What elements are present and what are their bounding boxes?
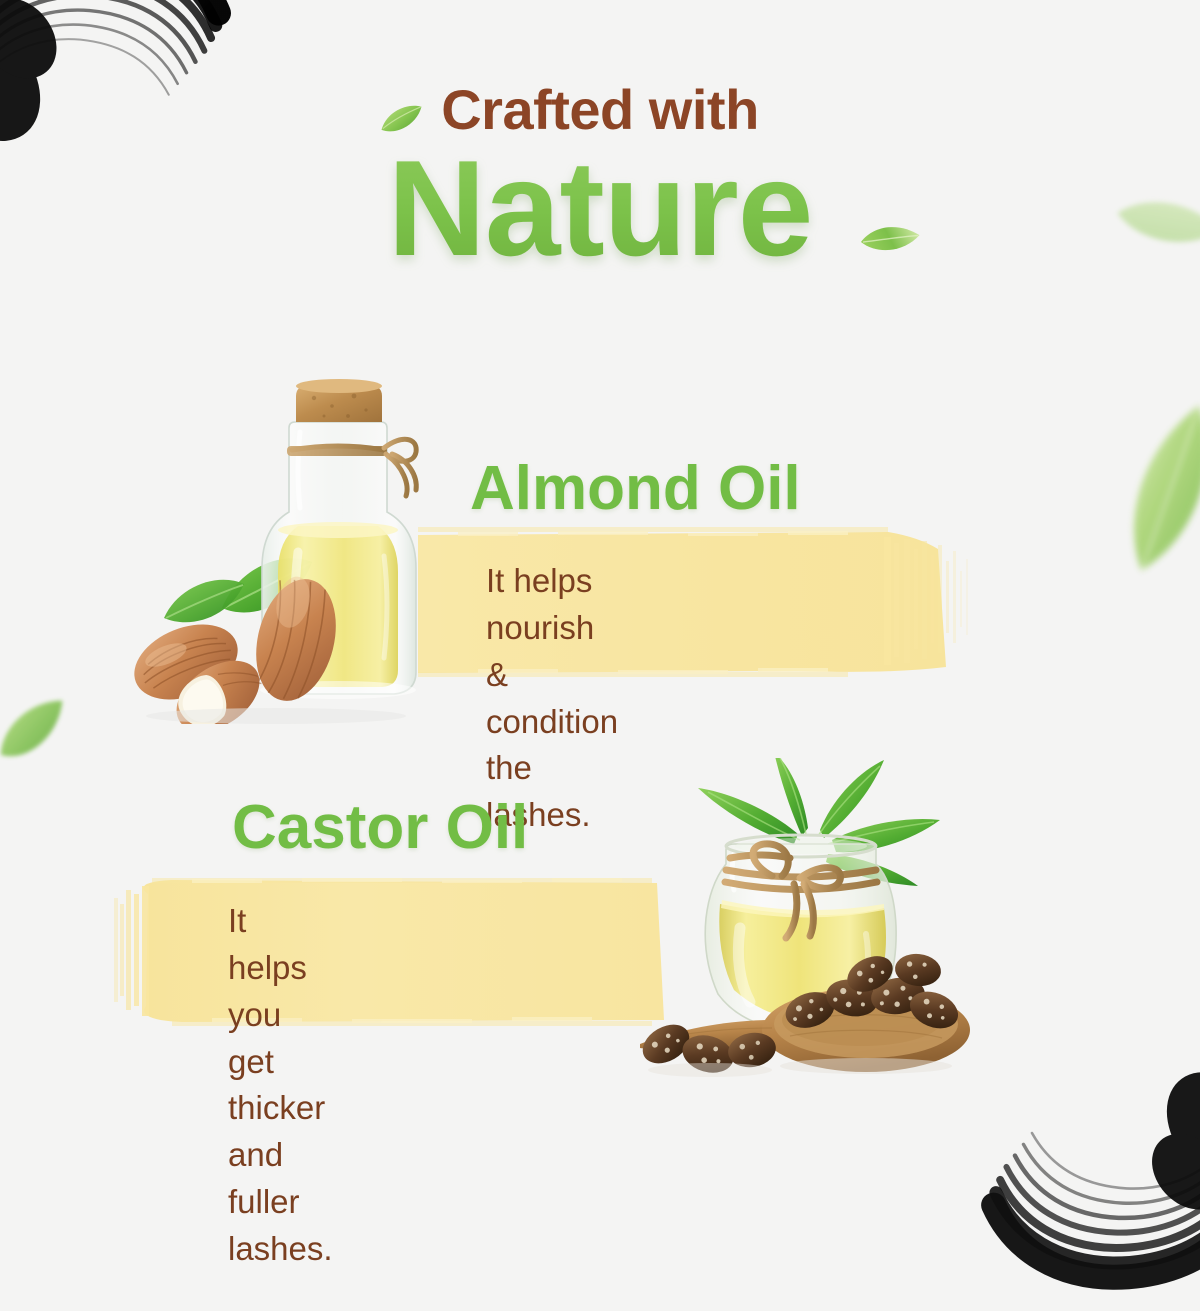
floating-leaf-c-icon [0,686,85,777]
poster-canvas: Crafted with Nature [0,0,1200,1200]
castor-banner-stroke [112,874,672,1026]
ingredient-title-almond: Almond Oil [470,458,801,520]
castor-oil-photo [622,758,1004,1092]
ingredient-description-castor: It helps you get thicker and fuller lash… [228,898,333,1273]
almond-oil-photo [126,372,448,724]
headline-wordmark: Nature [0,132,1200,284]
headline-kicker: Crafted with [0,82,1200,138]
floating-leaf-d-icon [1076,400,1200,582]
ingredient-title-castor: Castor Oil [232,797,528,859]
headline-group: Crafted with Nature [0,82,1200,284]
